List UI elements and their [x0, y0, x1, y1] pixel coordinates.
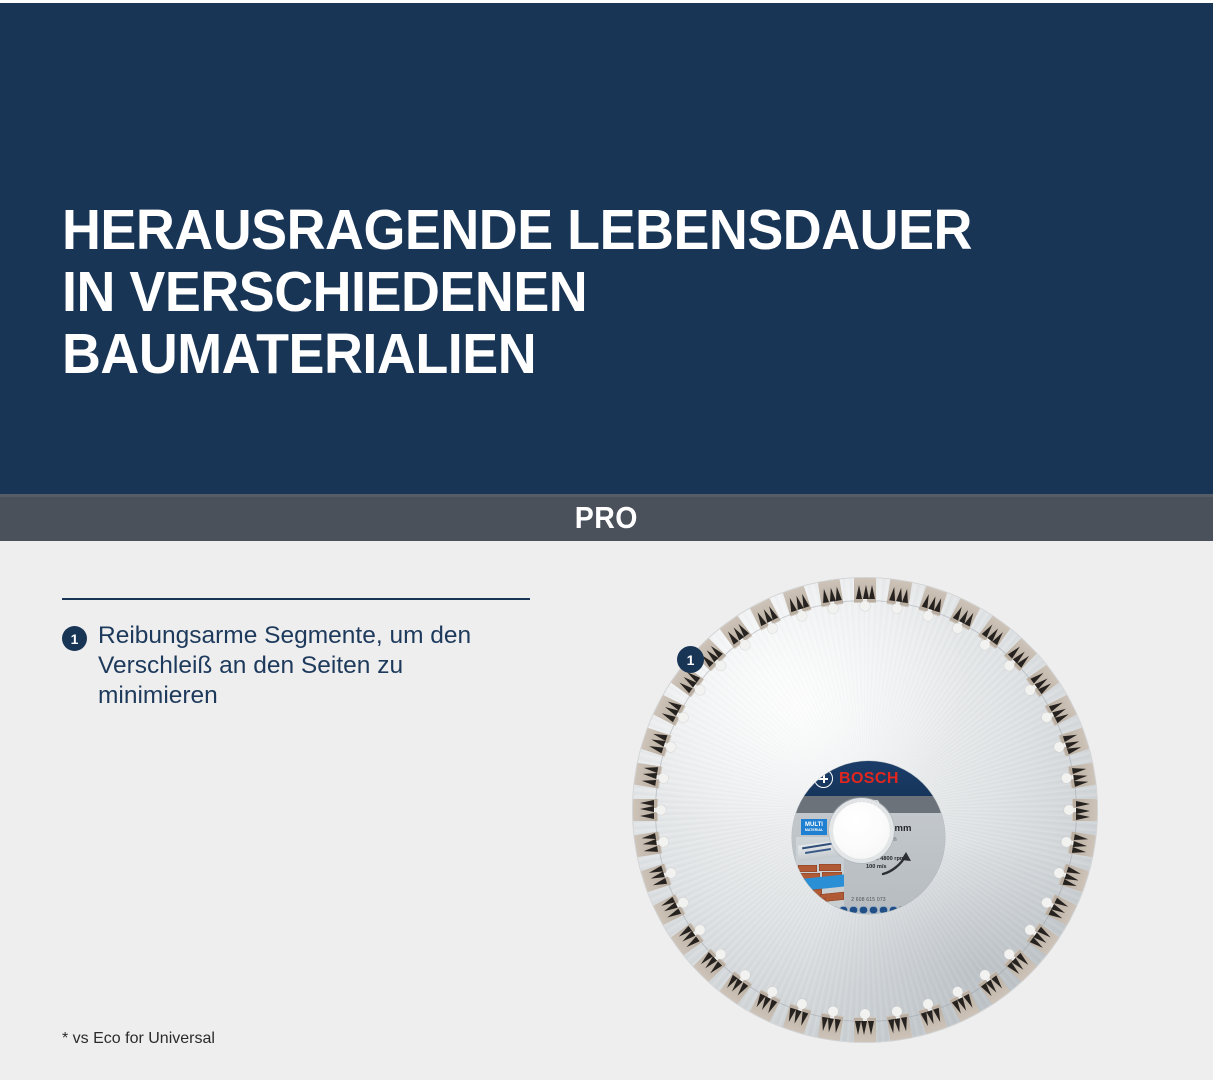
- segment-gullet: [656, 805, 666, 815]
- callout-badge-1: 1: [677, 646, 704, 673]
- tier-band: PRO: [0, 494, 1213, 541]
- segment-slot: [1072, 847, 1087, 855]
- multi-material-badge: MULTI MATERIAL: [801, 819, 827, 835]
- segment-slot: [869, 585, 875, 599]
- segment-slot: [834, 586, 842, 601]
- segment-gullet: [891, 603, 903, 615]
- page-title: HERAUSRAGENDE LEBENSDAUER IN VERSCHIEDEN…: [62, 199, 1064, 385]
- label-header: BOSCH: [792, 761, 945, 796]
- segment-gullet: [860, 1009, 870, 1019]
- segment-slot: [1076, 808, 1090, 814]
- segment-body: [1058, 863, 1089, 892]
- feature-list: 1 Reibungsarme Segmente, um den Verschle…: [62, 598, 532, 711]
- application-icon-masonry: [889, 906, 897, 914]
- segment-slot: [855, 1021, 861, 1035]
- application-icon-stone: [849, 906, 857, 914]
- segment-slot: [868, 1021, 874, 1035]
- segment-slot: [863, 585, 869, 599]
- feature-number-badge: 1: [62, 626, 87, 651]
- segment-body: [641, 863, 672, 892]
- segment-slot: [856, 585, 862, 599]
- segment-slot: [1074, 779, 1089, 787]
- segment-slot: [640, 806, 654, 812]
- segment-slot: [1076, 814, 1090, 820]
- application-icon-datamatrix: [899, 906, 907, 914]
- segment-slot: [902, 588, 910, 603]
- segment-gullet: [860, 601, 870, 611]
- product-image-diamond-blade: BOSCH PRO MULTI MATERIAL: [633, 578, 1097, 1042]
- application-icon-screed: [869, 906, 877, 914]
- segment-gullet: [795, 610, 808, 623]
- brand-wordmark: BOSCH: [839, 770, 899, 788]
- segment-slot: [1076, 801, 1090, 807]
- tier-band-label: PRO: [575, 500, 638, 536]
- multi-material-line2: MATERIAL: [805, 829, 823, 833]
- rotation-direction-arrow: [881, 850, 915, 876]
- feature-divider: [62, 598, 530, 600]
- segment-gullet: [658, 836, 670, 848]
- segment-slot: [640, 813, 654, 819]
- photo-brick: [798, 865, 817, 872]
- tier-band-highlight: [0, 494, 1213, 497]
- hero-banner: HERAUSRAGENDE LEBENSDAUER IN VERSCHIEDEN…: [0, 3, 1213, 494]
- footnote: * vs Eco for Universal: [62, 1030, 215, 1048]
- photo-brick: [819, 864, 841, 871]
- label-icon-row-applications: [792, 906, 945, 914]
- feature-description: Reibungsarme Segmente, um den Verschleiß…: [98, 621, 498, 711]
- segment-slot: [640, 800, 654, 806]
- bosch-logo-icon: [814, 769, 833, 788]
- content-area: 1 Reibungsarme Segmente, um den Verschle…: [0, 541, 1213, 1080]
- multi-material-line1: MULTI: [805, 822, 823, 828]
- list-item: 1 Reibungsarme Segmente, um den Verschle…: [62, 621, 532, 711]
- segment-body: [918, 586, 947, 617]
- product-feature-slide: HERAUSRAGENDE LEBENSDAUER IN VERSCHIEDEN…: [0, 0, 1213, 1080]
- segment-slot: [861, 1021, 867, 1035]
- part-number: 2 608 615 073: [792, 897, 945, 903]
- application-icon-brick: [839, 906, 847, 914]
- application-icon-asphalt: [879, 906, 887, 914]
- application-icon-tile: [859, 906, 867, 914]
- segment-gullet: [665, 740, 678, 753]
- segment-body: [918, 1003, 947, 1034]
- application-icon-concrete: [829, 906, 837, 914]
